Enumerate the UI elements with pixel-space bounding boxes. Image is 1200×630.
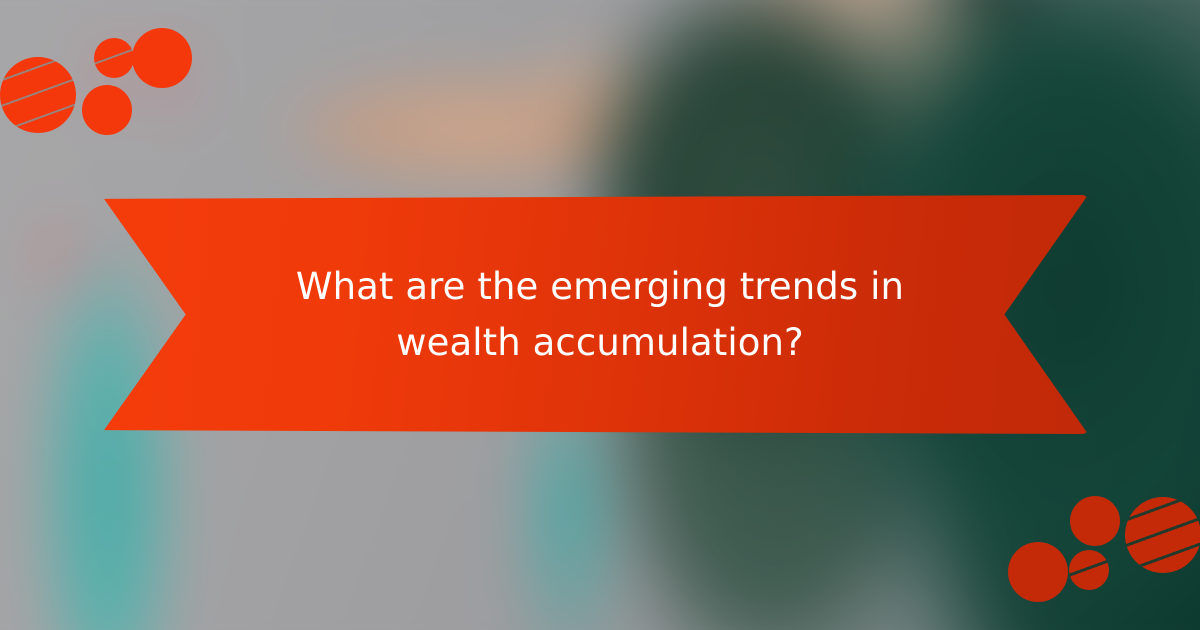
page-title: What are the emerging trends in wealth a… xyxy=(250,259,950,371)
social-card: What are the emerging trends in wealth a… xyxy=(0,0,1200,630)
circle-solid-medium xyxy=(1070,496,1120,546)
circle-striped-small xyxy=(1069,550,1109,590)
circle-striped-large xyxy=(0,57,76,133)
circle-solid-medium xyxy=(82,85,132,135)
circle-striped-small xyxy=(94,38,134,78)
circle-solid-large xyxy=(132,28,192,88)
circle-solid-large xyxy=(1008,542,1068,602)
circle-striped-large xyxy=(1125,497,1200,573)
headline-banner-text-area: What are the emerging trends in wealth a… xyxy=(170,195,1030,434)
